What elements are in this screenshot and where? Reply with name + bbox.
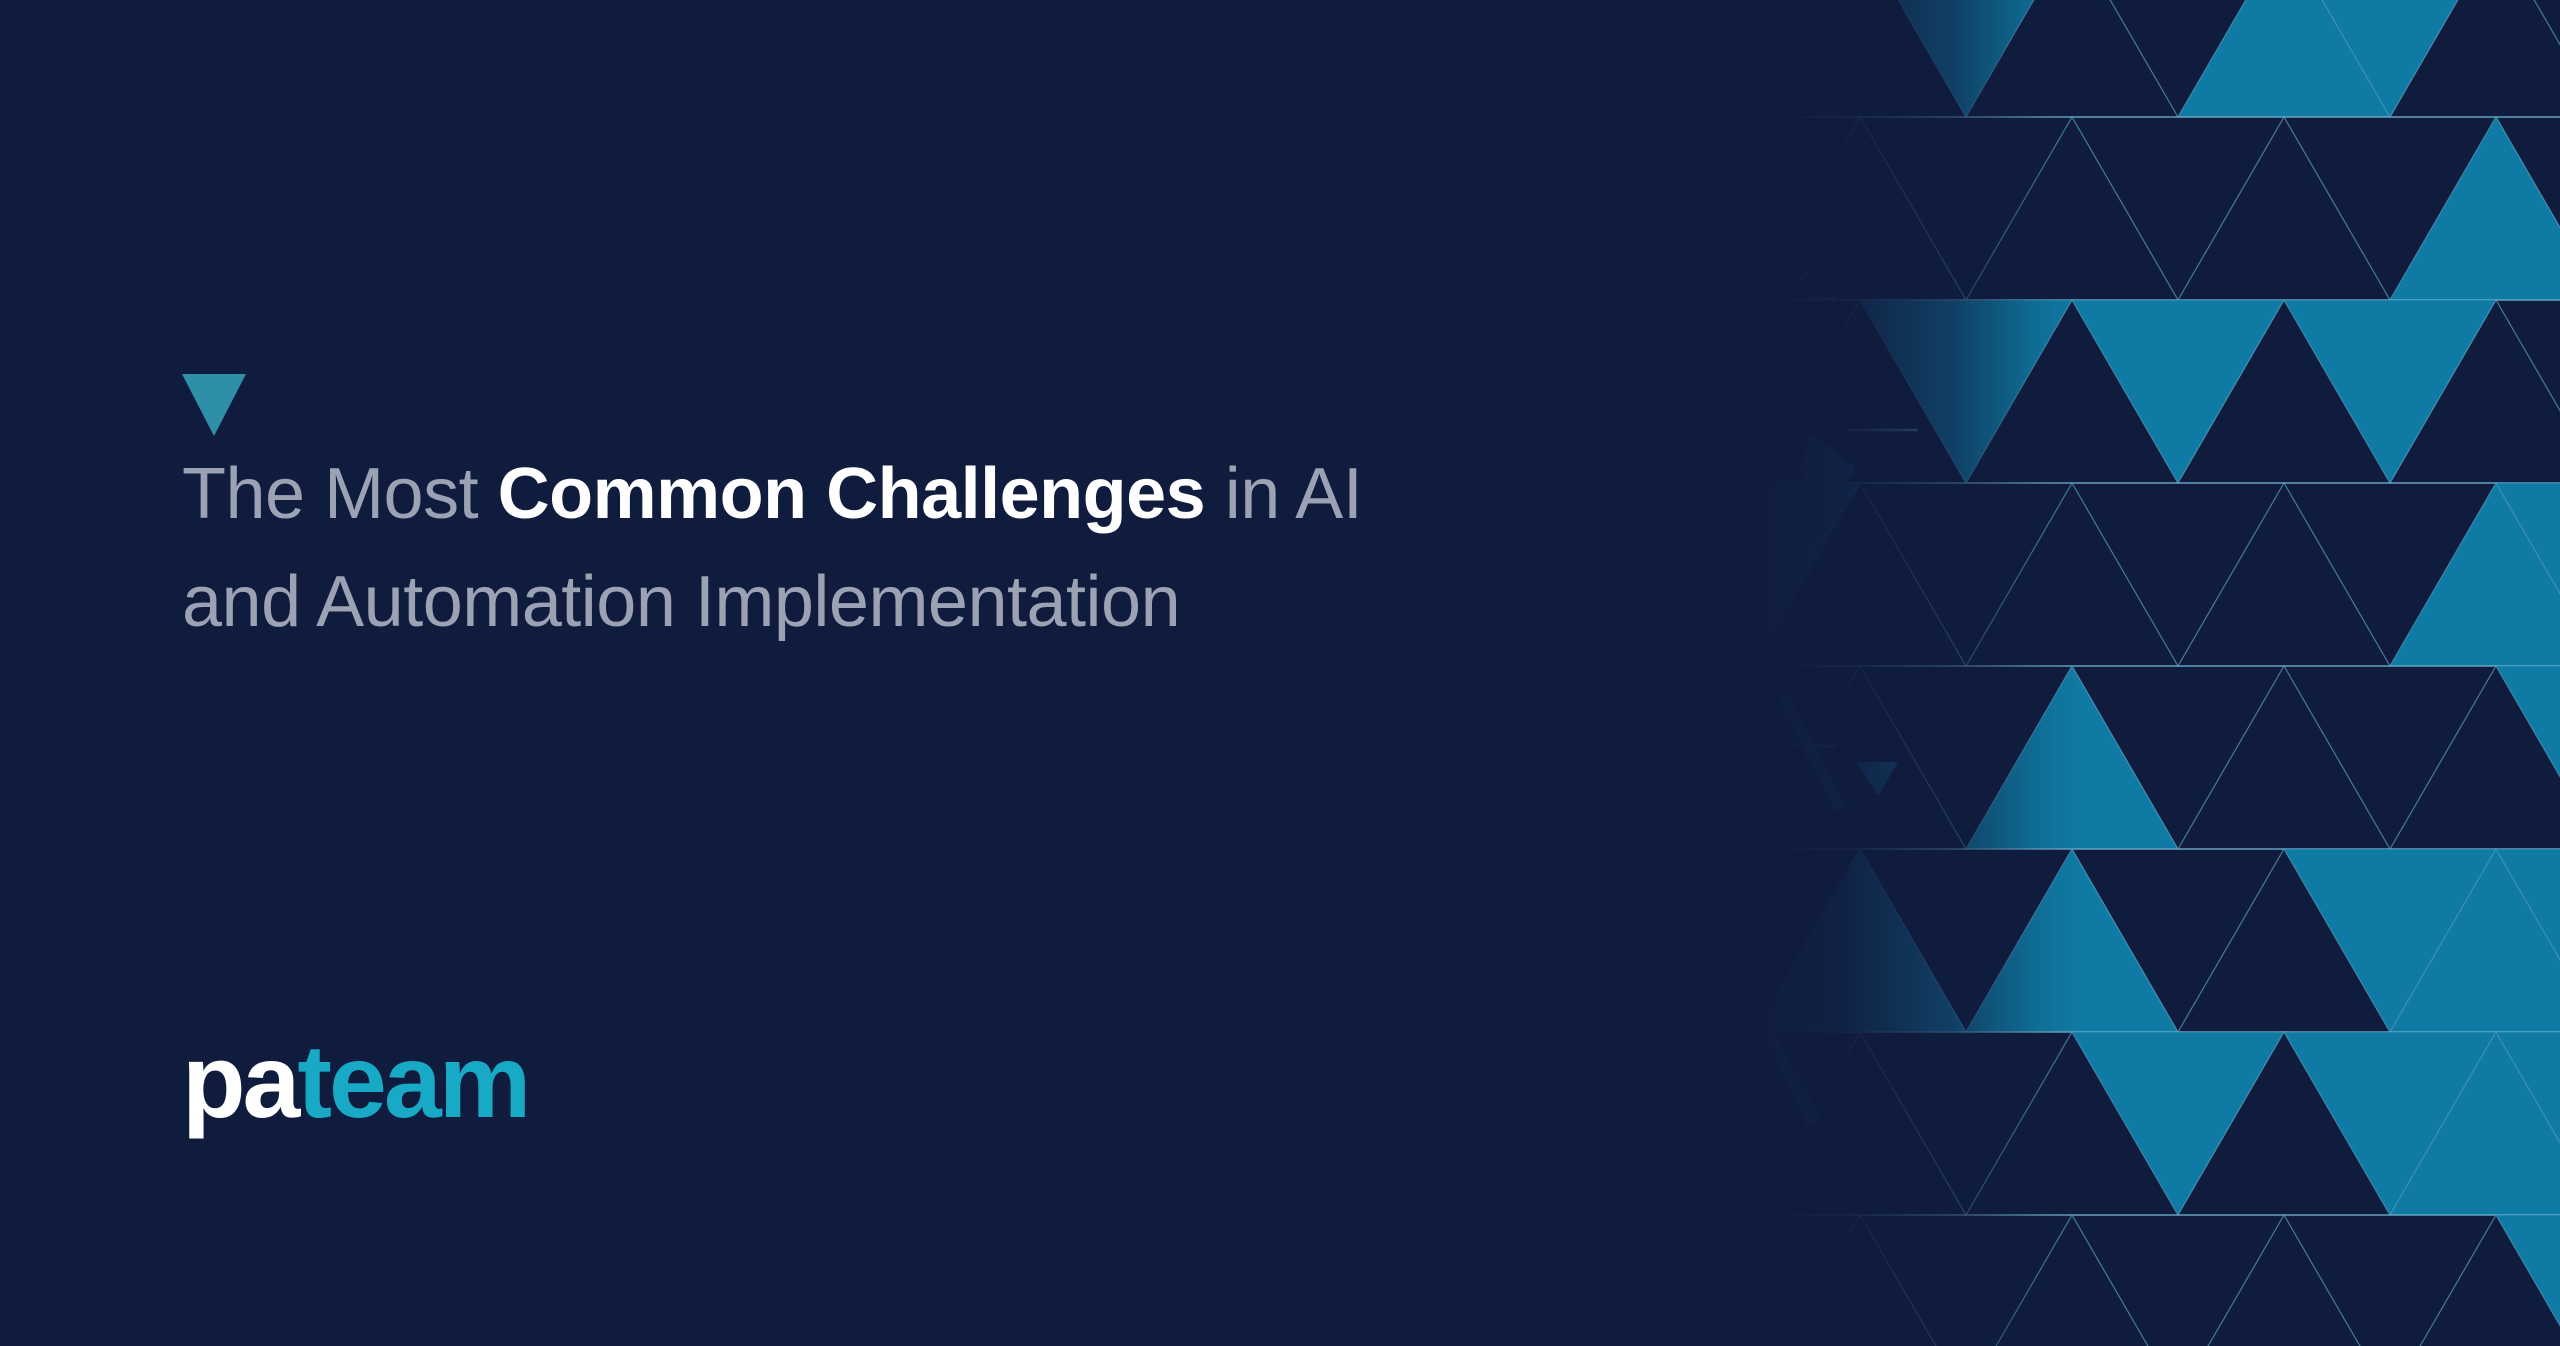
headline-emphasis: Common Challenges bbox=[498, 454, 1206, 534]
triangular-grid-svg bbox=[1660, 0, 2560, 1346]
headline-part-1: The Most bbox=[182, 454, 498, 534]
slide-canvas: The Most Common Challenges in AIand Auto… bbox=[0, 0, 2560, 1346]
headline-part-3: in AI bbox=[1205, 454, 1362, 534]
triangular-grid-pattern bbox=[1660, 0, 2560, 1346]
content-column: The Most Common Challenges in AIand Auto… bbox=[182, 0, 1582, 1346]
logo-part-pa: pa bbox=[182, 1024, 297, 1140]
brand-logo: pateam bbox=[182, 1022, 528, 1142]
logo-part-team: team bbox=[297, 1024, 528, 1140]
pattern-fade-overlay bbox=[1660, 0, 2080, 1346]
headline-line-2: and Automation Implementation bbox=[182, 562, 1180, 642]
down-triangle-icon bbox=[182, 374, 246, 436]
page-title: The Most Common Challenges in AIand Auto… bbox=[182, 440, 1522, 656]
